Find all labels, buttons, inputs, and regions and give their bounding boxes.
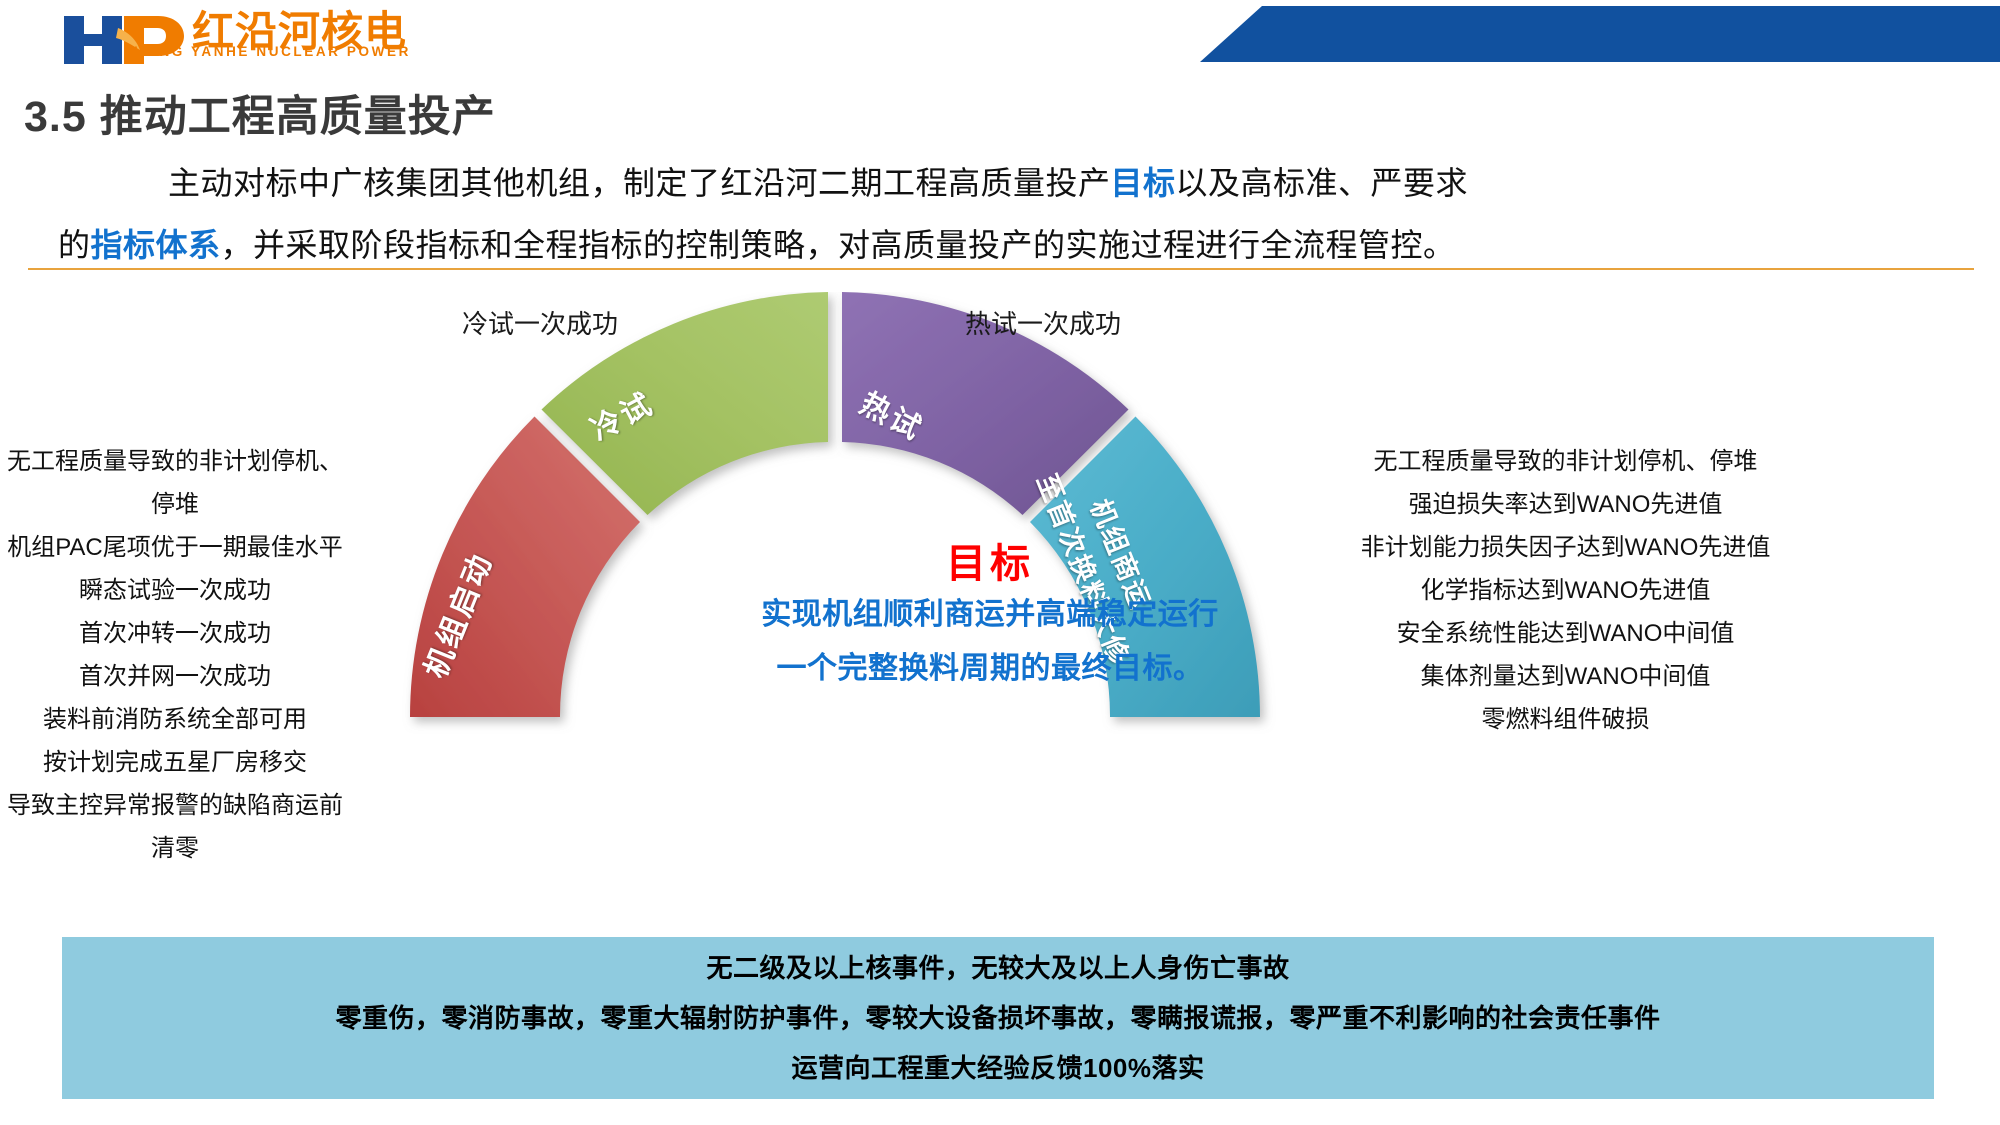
section-divider — [28, 268, 1974, 270]
slide-root: 一次把事情做好 红沿河核电 HONG YANHE NUCLEAR POWER 3… — [0, 0, 2000, 1125]
paragraph-line1-part-b: 以及高标准、严要求 — [1176, 165, 1469, 201]
paragraph-line2-part-a: 的 — [58, 227, 91, 263]
list-item: 化学指标达到WANO先进值 — [1150, 569, 1995, 612]
left-indicator-list: 无工程质量导致的非计划停机、停堆 机组PAC尾项优于一期最佳水平 瞬态试验一次成… — [0, 440, 350, 870]
list-item: 无工程质量导致的非计划停机、停堆 — [0, 440, 350, 526]
hyp-logo-icon — [62, 12, 188, 68]
bottom-banner: 无二级及以上核事件，无较大及以上人身伤亡事故 零重伤，零消防事故，零重大辐射防护… — [62, 937, 1934, 1099]
caption-cold-test: 冷试一次成功 — [462, 304, 618, 341]
header-banner — [1200, 6, 2000, 62]
list-item: 安全系统性能达到WANO中间值 — [1150, 612, 1995, 655]
list-item: 装料前消防系统全部可用 — [0, 698, 350, 741]
list-item: 瞬态试验一次成功 — [0, 569, 350, 612]
list-item: 集体剂量达到WANO中间值 — [1150, 655, 1995, 698]
caption-hot-test: 热试一次成功 — [965, 304, 1121, 341]
bottom-banner-line-2: 零重伤，零消防事故，零重大辐射防护事件，零较大设备损坏事故，零瞒报谎报，零严重不… — [335, 993, 1660, 1043]
list-item: 非计划能力损失因子达到WANO先进值 — [1150, 526, 1995, 569]
paragraph-highlight-index-system: 指标体系 — [91, 227, 221, 263]
bottom-banner-line-3: 运营向工程重大经验反馈100%落实 — [792, 1043, 1205, 1093]
list-item: 首次并网一次成功 — [0, 655, 350, 698]
list-item: 无工程质量导致的非计划停机、停堆 — [1150, 440, 1995, 483]
company-logo: 红沿河核电 — [62, 12, 407, 70]
page-title: 3.5 推动工程高质量投产 — [24, 82, 496, 144]
list-item: 按计划完成五星厂房移交 — [0, 741, 350, 784]
right-indicator-list: 无工程质量导致的非计划停机、停堆 强迫损失率达到WANO先进值 非计划能力损失因… — [1150, 440, 1995, 741]
list-item: 强迫损失率达到WANO先进值 — [1150, 483, 1995, 526]
paragraph-line1-part-a: 主动对标中广核集团其他机组，制定了红沿河二期工程高质量投产 — [168, 165, 1111, 201]
list-item: 机组PAC尾项优于一期最佳水平 — [0, 526, 350, 569]
list-item: 导致主控异常报警的缺陷商运前清零 — [0, 784, 350, 870]
list-item: 首次冲转一次成功 — [0, 612, 350, 655]
logo-english-name: HONG YANHE NUCLEAR POWER — [134, 44, 411, 59]
paragraph-highlight-goal: 目标 — [1111, 165, 1176, 201]
bottom-banner-line-1: 无二级及以上核事件，无较大及以上人身伤亡事故 — [706, 943, 1289, 993]
paragraph-line-1: 主动对标中广核集团其他机组，制定了红沿河二期工程高质量投产目标以及高标准、严要求 — [58, 152, 1958, 214]
paragraph-line-2: 的指标体系，并采取阶段指标和全程指标的控制策略，对高质量投产的实施过程进行全流程… — [58, 214, 1958, 276]
paragraph-line2-part-b: ，并采取阶段指标和全程指标的控制策略，对高质量投产的实施过程进行全流程管控。 — [221, 227, 1456, 263]
intro-paragraph: 主动对标中广核集团其他机组，制定了红沿河二期工程高质量投产目标以及高标准、严要求… — [58, 152, 1958, 276]
list-item: 零燃料组件破损 — [1150, 698, 1995, 741]
